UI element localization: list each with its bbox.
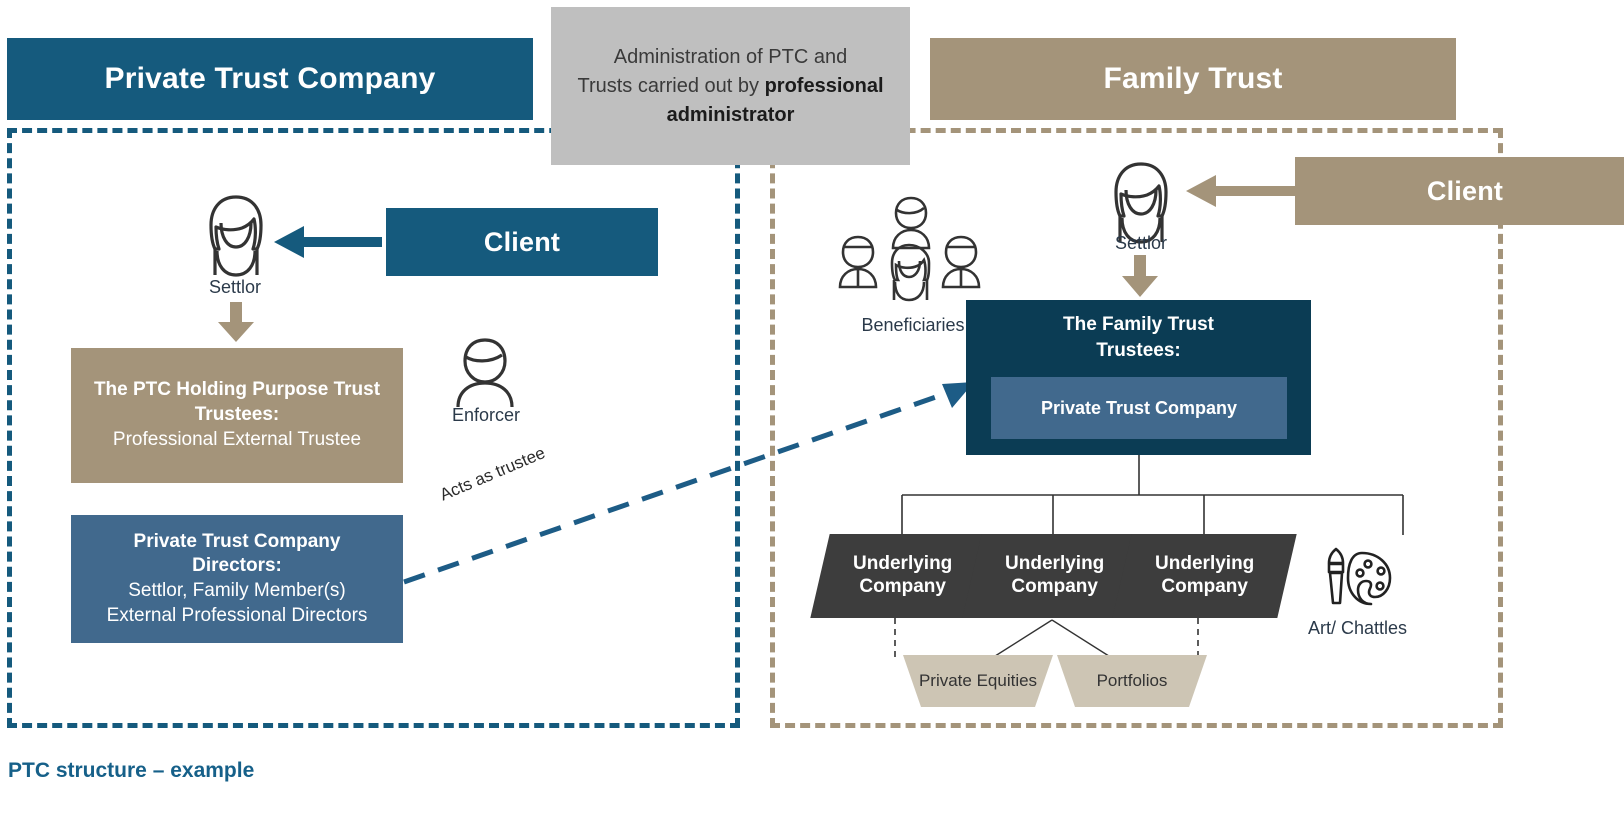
admin-note-bold1: professional xyxy=(765,75,884,97)
header-ptc-label: Private Trust Company xyxy=(105,62,436,96)
arrow-client-to-settlor-left xyxy=(272,223,382,261)
settlor-label-right: Settlor xyxy=(1091,233,1191,254)
uc3-line1: Underlying xyxy=(1155,553,1254,574)
holding-trust-subtitle: Professional External Trustee xyxy=(113,428,361,453)
header-private-trust-company: Private Trust Company xyxy=(7,38,533,120)
asset-portfolios-label: Portfolios xyxy=(1097,671,1168,691)
holding-trust-title-line1: The PTC Holding Purpose Trust xyxy=(94,378,380,403)
directors-title-line2: Directors: xyxy=(192,554,282,579)
ft-trustees-title-line1: The Family Trust xyxy=(1063,312,1214,338)
art-chattles-label: Art/ Chattles xyxy=(1290,618,1425,639)
admin-note-line1: Administration of PTC and xyxy=(614,46,847,68)
beneficiaries-icon-group xyxy=(836,195,986,310)
arrow-settlor-to-family-trust xyxy=(1120,255,1160,299)
uc2-line1: Underlying xyxy=(1005,553,1104,574)
client-label-right: Client xyxy=(1427,176,1503,207)
client-box-left[interactable]: Client xyxy=(386,208,658,276)
uc1-line1: Underlying xyxy=(853,553,952,574)
header-family-trust: Family Trust xyxy=(930,38,1456,120)
asset-private-equities[interactable]: Private Equities xyxy=(903,655,1053,707)
ptc-holding-purpose-trust-box[interactable]: The PTC Holding Purpose Trust Trustees: … xyxy=(71,348,403,483)
directors-subtitle-line2: External Professional Directors xyxy=(107,604,368,629)
uc3-line2: Company xyxy=(1161,576,1248,597)
ptc-directors-box[interactable]: Private Trust Company Directors: Settlor… xyxy=(71,515,403,643)
asset-portfolios[interactable]: Portfolios xyxy=(1057,655,1207,707)
ptc-inner-box[interactable]: Private Trust Company xyxy=(991,377,1287,439)
uc1-line2: Company xyxy=(859,576,946,597)
org-tree-connectors xyxy=(810,455,1510,545)
client-label-left: Client xyxy=(484,227,560,258)
arrow-settlor-to-holding-trust xyxy=(216,302,256,344)
directors-title-line1: Private Trust Company xyxy=(134,530,341,555)
arrow-client-to-settlor-right xyxy=(1184,172,1299,210)
settlor-label-left: Settlor xyxy=(185,277,285,298)
beneficiaries-label: Beneficiaries xyxy=(840,315,986,336)
client-box-right[interactable]: Client xyxy=(1295,157,1624,225)
holding-trust-title-line2: Trustees: xyxy=(195,403,279,428)
administration-note-box: Administration of PTC and Trusts carried… xyxy=(551,7,910,165)
asset-private-equities-label: Private Equities xyxy=(919,671,1037,691)
ft-trustees-title-line2: Trustees: xyxy=(1096,338,1180,364)
palette-brush-icon xyxy=(1322,545,1394,613)
ptc-inner-label: Private Trust Company xyxy=(1041,398,1237,419)
directors-subtitle-line1: Settlor, Family Member(s) xyxy=(128,579,345,604)
underlying-company-3[interactable]: Underlying Company xyxy=(1112,534,1296,618)
page-caption: PTC structure – example xyxy=(8,759,254,783)
header-family-trust-label: Family Trust xyxy=(1103,62,1282,96)
admin-note-bold2: administrator xyxy=(667,104,795,126)
uc2-line2: Company xyxy=(1011,576,1098,597)
admin-note-line2: Trusts carried out by xyxy=(577,75,764,97)
settlor-icon-left xyxy=(197,193,275,279)
